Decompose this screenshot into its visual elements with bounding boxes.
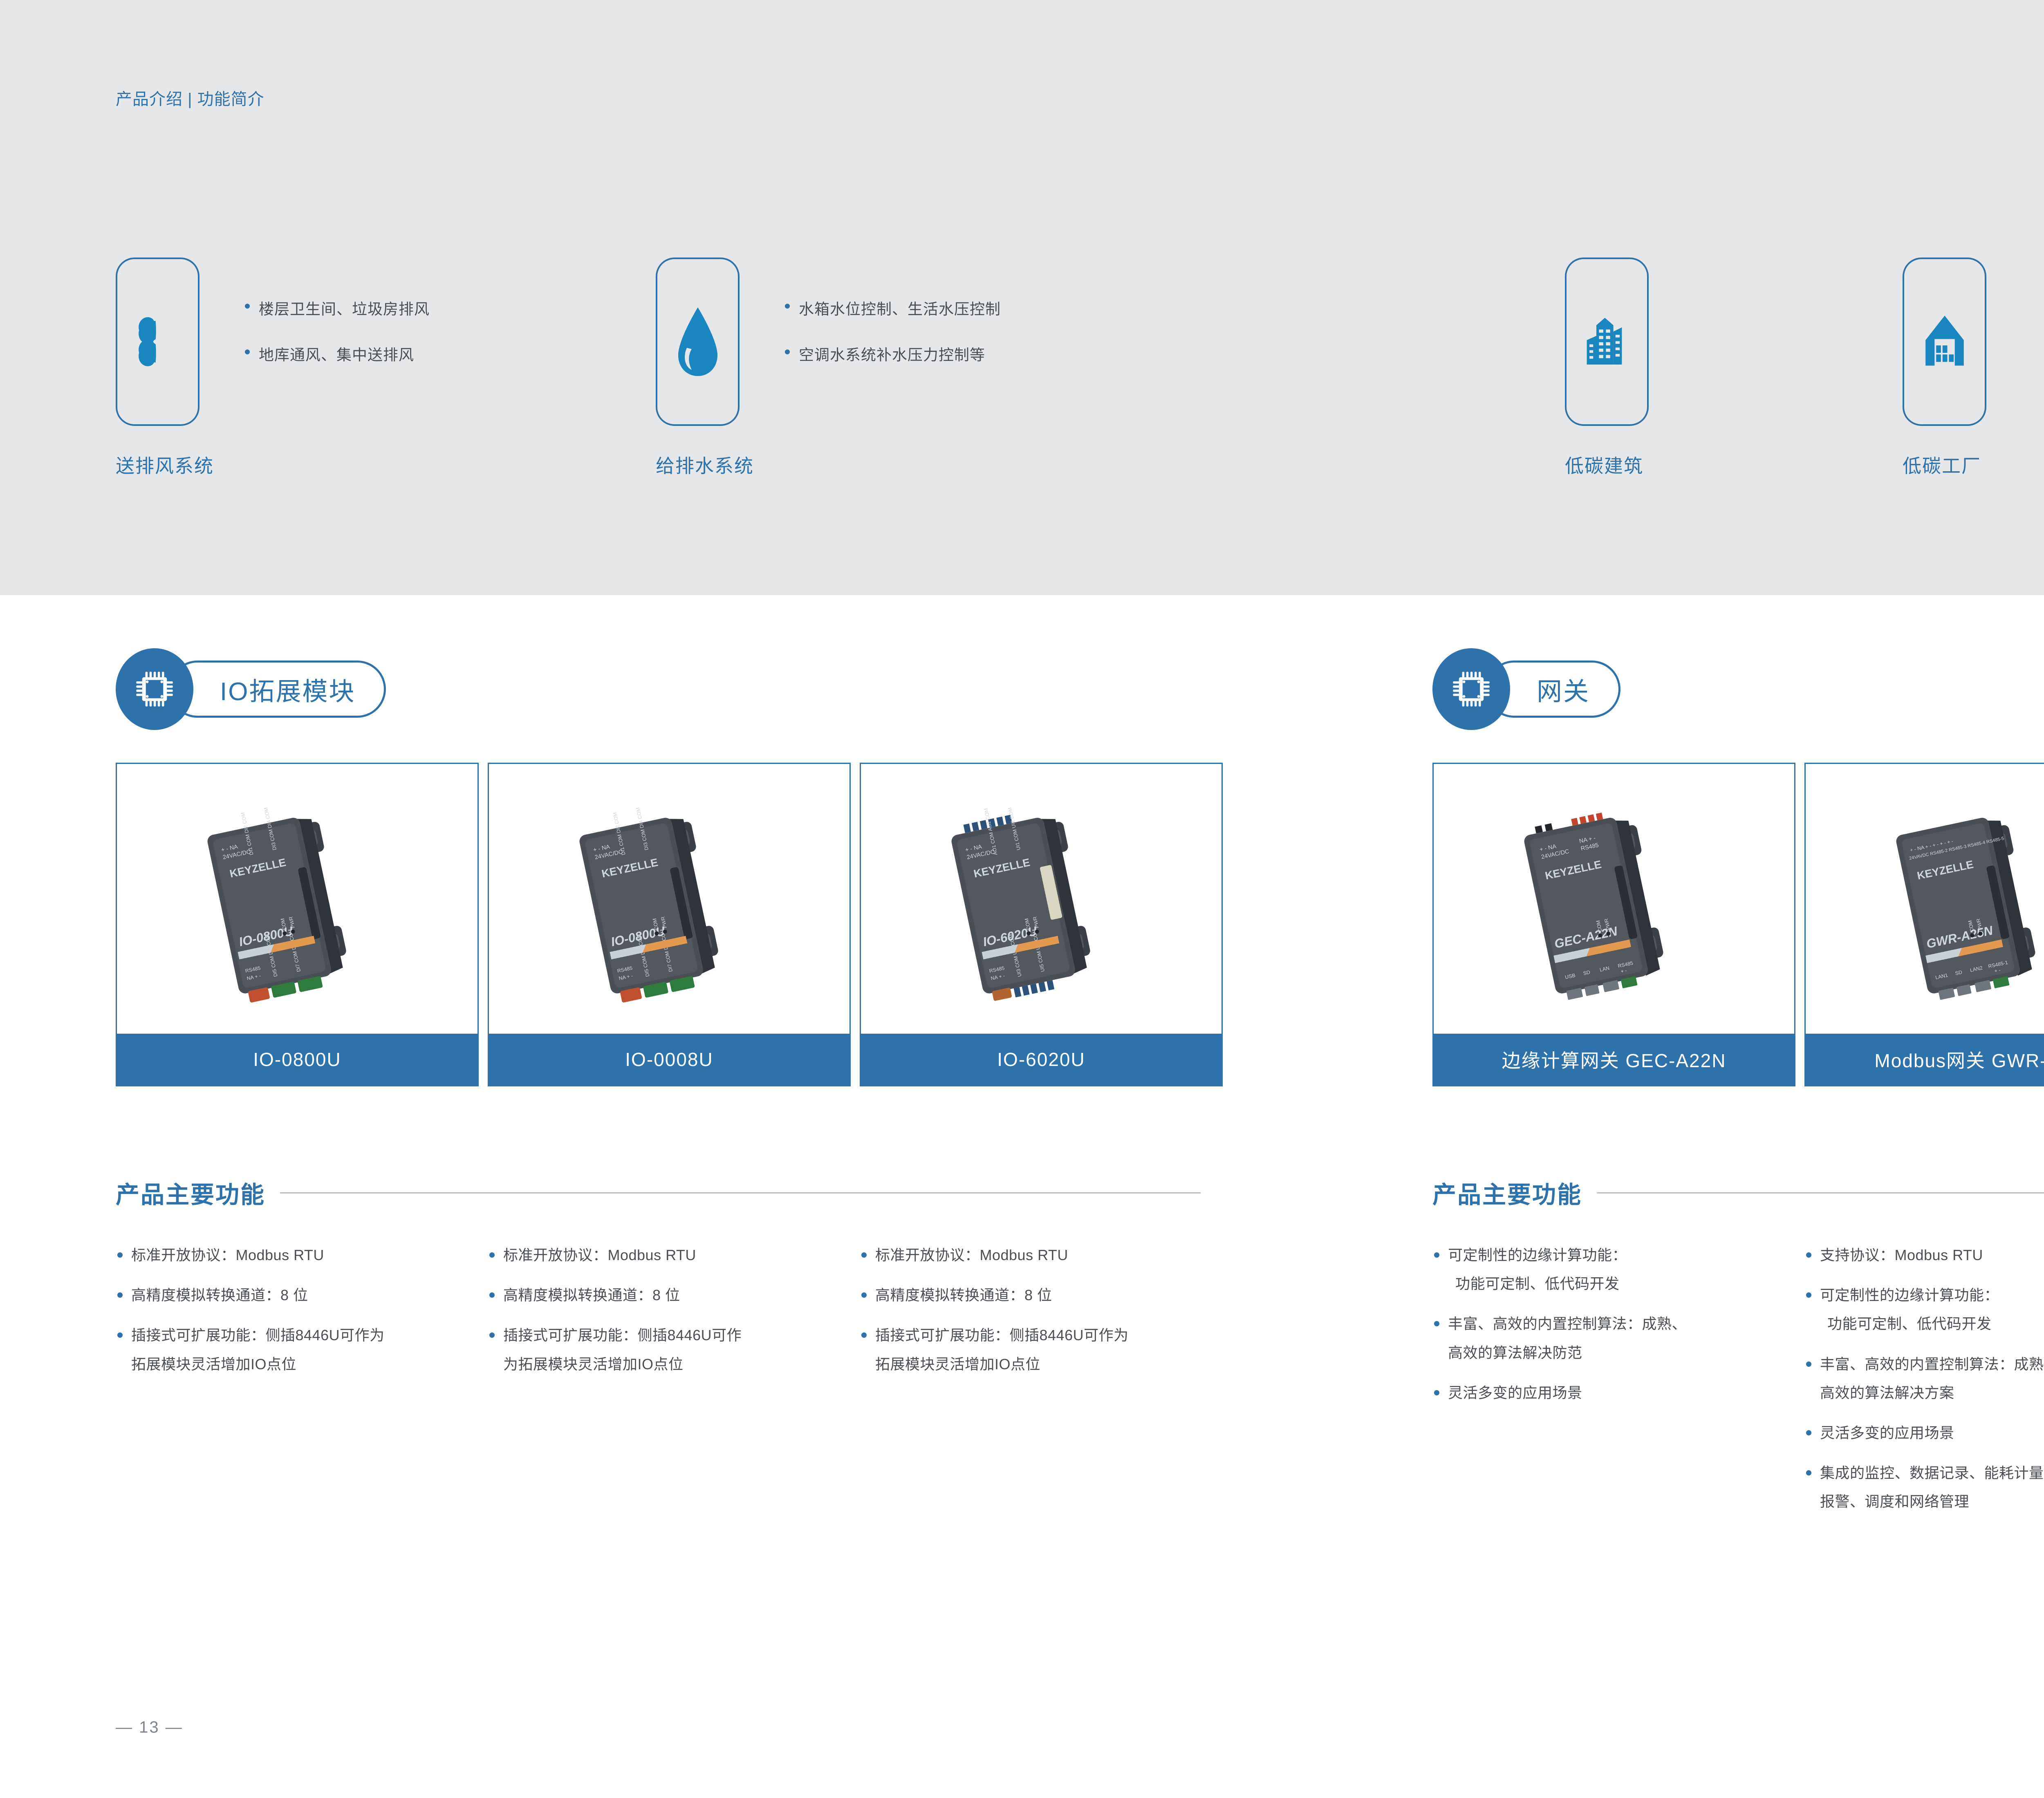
- target-low-carbon-factory: 低碳工厂: [1903, 257, 1986, 478]
- list-item: 高精度模拟转换通道：8 位: [488, 1281, 851, 1310]
- list-item: 可定制性的边缘计算功能： 功能可定制、低代码开发: [1432, 1241, 1795, 1298]
- fan-icon: [131, 307, 184, 376]
- page-number-left: — 13 —: [116, 1718, 183, 1737]
- list-item: 水箱水位控制、生活水压控制: [785, 297, 1001, 319]
- feature-line: 插接式可扩展功能：侧插8446U可作: [503, 1321, 851, 1350]
- list-item: 地库通风、集中送排风: [245, 343, 430, 365]
- svg-text:+ -: + -: [1620, 967, 1627, 974]
- page-right: 网关: [1317, 595, 2044, 1798]
- office-building-tile: [1565, 257, 1649, 426]
- features-columns-gateway: 可定制性的边缘计算功能： 功能可定制、低代码开发 丰富、高效的内置控制算法：成熟…: [1432, 1241, 2044, 1528]
- feature-line: 拓展模块灵活增加IO点位: [131, 1350, 479, 1379]
- badge-label: IO拓展模块: [220, 671, 355, 708]
- list-item: 丰富、高效的内置控制算法：成熟、 高效的算法解决防范: [1432, 1310, 1795, 1367]
- features-heading-io: 产品主要功能: [116, 1176, 1201, 1210]
- feature-line: 可定制性的边缘计算功能：: [1820, 1281, 2044, 1310]
- feature-line: 灵活多变的应用场景: [1820, 1419, 2044, 1447]
- factory-icon: [1918, 307, 1971, 376]
- product-caption: 边缘计算网关 GEC-A22N: [1434, 1034, 1794, 1085]
- divider: [280, 1192, 1201, 1193]
- list-item: 标准开放协议：Modbus RTU: [116, 1241, 479, 1270]
- list-item: 插接式可扩展功能：侧插8446U可作为 拓展模块灵活增加IO点位: [860, 1321, 1223, 1378]
- badge-pill-io: IO拓展模块: [169, 661, 386, 718]
- feature-line: 丰富、高效的内置控制算法：成熟、: [1820, 1350, 2044, 1379]
- features-column: 可定制性的边缘计算功能： 功能可定制、低代码开发 丰富、高效的内置控制算法：成熟…: [1432, 1241, 1795, 1528]
- feature-line: 报警、调度和网络管理: [1820, 1487, 2044, 1516]
- feature-line: 灵活多变的应用场景: [1448, 1379, 1795, 1407]
- feature-line: 标准开放协议：Modbus RTU: [131, 1241, 479, 1270]
- list-item: 灵活多变的应用场景: [1804, 1419, 2044, 1447]
- product-caption: Modbus网关 GWR-A25N: [1806, 1034, 2044, 1085]
- features-heading-gateway: 产品主要功能: [1432, 1176, 2044, 1210]
- factory-tile: [1903, 257, 1986, 426]
- list-item: 高精度模拟转换通道：8 位: [860, 1281, 1223, 1310]
- list-item: 插接式可扩展功能：侧插8446U可作 为拓展模块灵活增加IO点位: [488, 1321, 851, 1378]
- water-drop-icon: [673, 305, 722, 378]
- feature-line: 为拓展模块灵活增加IO点位: [503, 1350, 851, 1379]
- fan-bullets: 楼层卫生间、垃圾房排风 地库通风、集中送排风: [245, 257, 430, 388]
- list-item: 集成的监控、数据记录、能耗计量、 报警、调度和网络管理: [1804, 1459, 2044, 1516]
- features-title: 产品主要功能: [1432, 1176, 1582, 1210]
- fan-caption: 送排风系统: [116, 451, 214, 478]
- feature-line: 标准开放协议：Modbus RTU: [875, 1241, 1223, 1270]
- badge-label: 网关: [1537, 671, 1590, 708]
- features-column: 标准开放协议：Modbus RTU 高精度模拟转换通道：8 位 插接式可扩展功能…: [116, 1241, 479, 1390]
- scenario-water: 给排水系统 水箱水位控制、生活水压控制 空调水系统补水压力控制等: [656, 257, 1001, 478]
- section-badge-io: IO拓展模块: [116, 648, 386, 730]
- product-caption: IO-0800U: [117, 1034, 477, 1085]
- feature-line: 标准开放协议：Modbus RTU: [503, 1241, 851, 1270]
- feature-line: 高精度模拟转换通道：8 位: [875, 1281, 1223, 1310]
- product-card-strip-io: + - NA 24VAC/DC DI1 COM DI2 COM DI3 COM …: [116, 763, 1223, 1086]
- product-card[interactable]: + - NA 24VAC/DC DI1 COM DI2 COM DI3 COM …: [116, 763, 479, 1086]
- list-item: 标准开放协议：Modbus RTU: [488, 1241, 851, 1270]
- water-tile: [656, 257, 740, 426]
- feature-line: 集成的监控、数据记录、能耗计量、: [1820, 1459, 2044, 1487]
- features-column: 标准开放协议：Modbus RTU 高精度模拟转换通道：8 位 插接式可扩展功能…: [860, 1241, 1223, 1390]
- list-item: 丰富、高效的内置控制算法：成熟、 高效的算法解决方案: [1804, 1350, 2044, 1407]
- section-badge-gateway: 网关: [1432, 648, 1620, 730]
- fan-tile: [116, 257, 199, 426]
- features-column: 标准开放协议：Modbus RTU 高精度模拟转换通道：8 位 插接式可扩展功能…: [488, 1241, 851, 1390]
- chip-icon: [116, 648, 193, 730]
- list-item: 灵活多变的应用场景: [1432, 1379, 1795, 1407]
- svg-text:+ -: + -: [1994, 967, 2001, 974]
- list-item: 支持协议：Modbus RTU: [1804, 1241, 2044, 1270]
- feature-line: 功能可定制、低代码开发: [1448, 1270, 1795, 1298]
- list-item: 高精度模拟转换通道：8 位: [116, 1281, 479, 1310]
- product-image: + - NA 24VAC/DC NA + - RS485 KEYZELLE GE…: [1434, 764, 1794, 1034]
- target-caption: 低碳工厂: [1903, 451, 1986, 478]
- feature-line: 支持协议：Modbus RTU: [1820, 1241, 2044, 1270]
- product-caption: IO-6020U: [861, 1034, 1221, 1085]
- product-card[interactable]: + - NA + - + - + - + - 24VAVDC RS485-2 R…: [1804, 763, 2044, 1086]
- product-card[interactable]: + - NA 24VAC/DC DI1 COM DI2 COM DI3 COM …: [488, 763, 851, 1086]
- feature-line: 插接式可扩展功能：侧插8446U可作为: [131, 1321, 479, 1350]
- feature-line: 拓展模块灵活增加IO点位: [875, 1350, 1223, 1379]
- feature-line: 插接式可扩展功能：侧插8446U可作为: [875, 1321, 1223, 1350]
- list-item: 标准开放协议：Modbus RTU: [860, 1241, 1223, 1270]
- office-building-icon: [1580, 307, 1634, 376]
- water-caption: 给排水系统: [656, 451, 754, 478]
- feature-line: 功能可定制、低代码开发: [1820, 1310, 2044, 1338]
- product-image: + - NA 24VAC/DC DI1 COM DI2 COM DI3 COM …: [117, 764, 477, 1034]
- water-bullets: 水箱水位控制、生活水压控制 空调水系统补水压力控制等: [785, 257, 1001, 388]
- product-caption: IO-0008U: [489, 1034, 849, 1085]
- divider: [1597, 1192, 2044, 1193]
- product-image: + - NA 24VAC/DC DI1 COM DI2 COM DI3 COM …: [489, 764, 849, 1034]
- product-card[interactable]: + - NA 24VAC/DC AO1 COM AO2 COM UI1 COM …: [860, 763, 1223, 1086]
- running-head-left: 产品介绍 | 功能简介: [116, 86, 264, 110]
- list-item: 楼层卫生间、垃圾房排风: [245, 297, 430, 319]
- feature-line: 高精度模拟转换通道：8 位: [131, 1281, 479, 1310]
- chip-icon: [1432, 648, 1510, 730]
- target-low-carbon-building: 低碳建筑: [1565, 257, 1649, 478]
- feature-line: 丰富、高效的内置控制算法：成熟、: [1448, 1310, 1795, 1338]
- product-card[interactable]: + - NA 24VAC/DC NA + - RS485 KEYZELLE GE…: [1432, 763, 1795, 1086]
- feature-line: 可定制性的边缘计算功能：: [1448, 1241, 1795, 1270]
- feature-line: 高精度模拟转换通道：8 位: [503, 1281, 851, 1310]
- feature-line: 高效的算法解决防范: [1448, 1339, 1795, 1367]
- features-column: 支持协议：Modbus RTU 可定制性的边缘计算功能： 功能可定制、低代码开发…: [1804, 1241, 2044, 1528]
- scenario-fan: 送排风系统 楼层卫生间、垃圾房排风 地库通风、集中送排风: [116, 257, 430, 478]
- product-card-strip-gateway: + - NA 24VAC/DC NA + - RS485 KEYZELLE GE…: [1432, 763, 2044, 1086]
- features-columns-io: 标准开放协议：Modbus RTU 高精度模拟转换通道：8 位 插接式可扩展功能…: [116, 1241, 1223, 1390]
- features-title: 产品主要功能: [116, 1176, 265, 1210]
- product-image: + - NA 24VAC/DC AO1 COM AO2 COM UI1 COM …: [861, 764, 1221, 1034]
- product-image: + - NA + - + - + - + - 24VAVDC RS485-2 R…: [1806, 764, 2044, 1034]
- list-item: 可定制性的边缘计算功能： 功能可定制、低代码开发: [1804, 1281, 2044, 1338]
- page-left: IO拓展模块 + - NA: [0, 595, 1316, 1798]
- list-item: 插接式可扩展功能：侧插8446U可作为 拓展模块灵活增加IO点位: [116, 1321, 479, 1378]
- list-item: 空调水系统补水压力控制等: [785, 343, 1001, 365]
- feature-line: 高效的算法解决方案: [1820, 1379, 2044, 1407]
- target-caption: 低碳建筑: [1565, 451, 1649, 478]
